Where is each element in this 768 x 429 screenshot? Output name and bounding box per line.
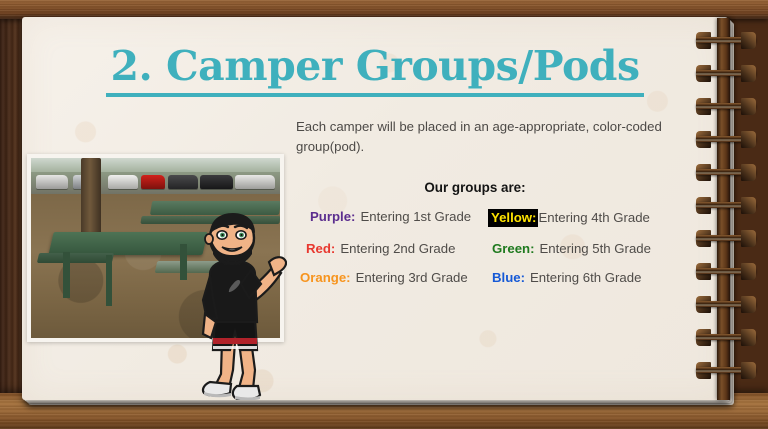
binding-ring	[696, 230, 756, 247]
intro-paragraph: Each camper will be placed in an age-app…	[292, 117, 702, 157]
group-item-green: Green: Entering 5th Grade	[488, 241, 688, 256]
title-container: 2. Camper Groups/Pods	[22, 45, 728, 97]
group-grade-red: Entering 2nd Grade	[340, 241, 455, 256]
ring-cap-right	[741, 197, 756, 214]
photo-bench-left	[37, 253, 114, 263]
photo-table-leg	[106, 255, 112, 305]
binding-ring	[696, 98, 756, 115]
group-row: Red: Entering 2nd Grade Green: Entering …	[292, 241, 702, 256]
group-label-yellow: Yellow:	[488, 209, 538, 227]
ring-cap-right	[741, 263, 756, 280]
binding-ring	[696, 263, 756, 280]
spiral-binding	[700, 18, 756, 400]
ring-cap-right	[741, 32, 756, 49]
photo-car	[36, 175, 68, 189]
group-item-orange: Orange: Entering 3rd Grade	[292, 270, 488, 285]
ring-cap-right	[741, 329, 756, 346]
photo-car	[200, 175, 232, 189]
binding-ring	[696, 329, 756, 346]
photo-car	[141, 175, 166, 189]
binding-ring	[696, 32, 756, 49]
photo-car	[168, 175, 198, 189]
bitmoji-avatar	[177, 210, 287, 400]
group-row: Purple: Entering 1st Grade Yellow: Enter…	[292, 209, 702, 227]
group-item-red: Red: Entering 2nd Grade	[292, 241, 488, 256]
ring-cap-right	[741, 362, 756, 379]
notebook-page-stack: 2. Camper Groups/Pods	[22, 17, 728, 400]
group-label-blue: Blue:	[492, 270, 525, 285]
binding-ring	[696, 197, 756, 214]
group-item-purple: Purple: Entering 1st Grade	[292, 209, 488, 227]
ring-cap-right	[741, 296, 756, 313]
ring-cap-right	[741, 65, 756, 82]
photo-table-leg	[63, 252, 69, 299]
photo-car	[235, 175, 275, 189]
group-label-purple: Purple:	[310, 209, 355, 224]
ring-cap-right	[741, 164, 756, 181]
group-label-orange: Orange:	[300, 270, 351, 285]
group-grade-yellow: Entering 4th Grade	[538, 210, 649, 225]
group-item-yellow: Yellow: Entering 4th Grade	[488, 209, 688, 227]
ring-cap-right	[741, 131, 756, 148]
ring-cap-right	[741, 230, 756, 247]
binding-ring	[696, 164, 756, 181]
binding-ring	[696, 362, 756, 379]
group-item-blue: Blue: Entering 6th Grade	[488, 270, 688, 285]
group-row: Orange: Entering 3rd Grade Blue: Enterin…	[292, 270, 702, 285]
slide-page: 2. Camper Groups/Pods	[22, 17, 728, 400]
photo-tree-trunk	[81, 158, 101, 234]
group-label-red: Red:	[306, 241, 335, 256]
page-title: 2. Camper Groups/Pods	[106, 45, 643, 97]
photo-car	[108, 175, 138, 189]
group-label-green: Green:	[492, 241, 535, 256]
group-grade-purple: Entering 1st Grade	[360, 209, 471, 224]
group-grade-green: Entering 5th Grade	[540, 241, 651, 256]
ring-cap-right	[741, 98, 756, 115]
binding-ring	[696, 296, 756, 313]
group-grade-blue: Entering 6th Grade	[530, 270, 641, 285]
groups-heading: Our groups are:	[292, 180, 702, 195]
group-grade-orange: Entering 3rd Grade	[356, 270, 468, 285]
binding-ring	[696, 65, 756, 82]
binding-ring	[696, 131, 756, 148]
content-text-column: Each camper will be placed in an age-app…	[292, 117, 702, 285]
